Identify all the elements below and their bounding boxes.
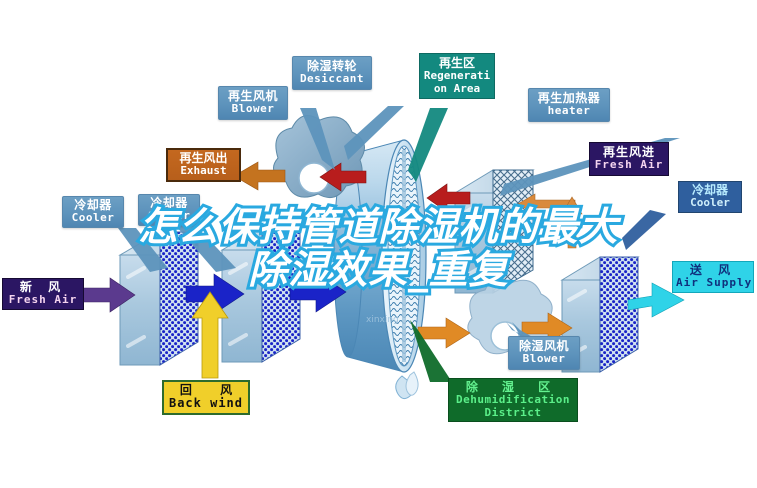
label-fresh-air-inlet-en: Fresh Air (6, 294, 80, 306)
label-regen-heater-en: heater (533, 105, 605, 117)
label-regen-blower-cn: 再生风机 (223, 90, 283, 103)
label-desiccant-rotor-en: Desiccant (297, 73, 367, 85)
label-fresh-air-inlet[interactable]: 新 风 Fresh Air (2, 278, 84, 310)
label-back-wind-en: Back wind (167, 397, 245, 410)
label-regen-exhaust-cn: 再生风出 (171, 152, 236, 165)
label-fresh-air-inlet-cn: 新 风 (6, 281, 80, 294)
label-regen-heater[interactable]: 再生加热器 heater (528, 88, 610, 122)
label-regen-fresh-air[interactable]: 再生风进 Fresh Air (589, 142, 669, 176)
label-regeneration-area[interactable]: 再生区 Regenerati on Area (419, 53, 495, 99)
label-regen-exhaust[interactable]: 再生风出 Exhaust (166, 148, 241, 182)
label-cooler-left-2[interactable]: 冷却器 Cooler (138, 194, 200, 226)
label-back-wind-cn: 回 风 (167, 384, 245, 397)
label-dehum-blower-cn: 除湿风机 (513, 340, 575, 353)
label-dehum-district-en2: District (452, 407, 574, 419)
label-regen-blower[interactable]: 再生风机 Blower (218, 86, 288, 120)
label-regeneration-area-cn: 再生区 (423, 57, 491, 70)
label-desiccant-rotor-cn: 除湿转轮 (297, 60, 367, 73)
label-regen-fresh-air-cn: 再生风进 (593, 146, 665, 159)
diagram-canvas: xinxing (0, 0, 757, 488)
label-dehumidification-district[interactable]: 除 湿 区 Dehumidification District (448, 378, 578, 422)
label-cooler-left-2-en: Cooler (142, 210, 196, 222)
label-cooler-left-1[interactable]: 冷却器 Cooler (62, 196, 124, 228)
label-dehum-blower[interactable]: 除湿风机 Blower (508, 336, 580, 370)
label-air-supply-en: Air Supply (676, 277, 750, 289)
label-regen-blower-en: Blower (223, 103, 283, 115)
condensate-drop (396, 372, 418, 399)
label-dehum-district-en1: Dehumidification (452, 394, 574, 406)
label-cooler-left-2-cn: 冷却器 (142, 197, 196, 210)
label-back-wind[interactable]: 回 风 Back wind (162, 380, 250, 415)
label-dehum-district-cn: 除 湿 区 (452, 381, 574, 394)
svg-text:xinxing: xinxing (366, 315, 399, 325)
label-cooler-right-en: Cooler (682, 197, 738, 209)
label-cooler-right-cn: 冷却器 (682, 184, 738, 197)
label-regeneration-area-en1: Regenerati (423, 70, 491, 82)
label-air-supply[interactable]: 送 风 Air Supply (672, 261, 754, 293)
label-desiccant-rotor[interactable]: 除湿转轮 Desiccant (292, 56, 372, 90)
label-regen-exhaust-en: Exhaust (171, 165, 236, 177)
label-cooler-right[interactable]: 冷却器 Cooler (678, 181, 742, 213)
diagram-graphics: xinxing (0, 0, 757, 488)
label-cooler-left-1-en: Cooler (66, 212, 120, 224)
label-dehum-blower-en: Blower (513, 353, 575, 365)
label-regen-fresh-air-en: Fresh Air (593, 159, 665, 171)
label-regen-heater-cn: 再生加热器 (533, 92, 605, 105)
label-cooler-left-1-cn: 冷却器 (66, 199, 120, 212)
label-regeneration-area-en2: on Area (423, 83, 491, 95)
label-air-supply-cn: 送 风 (676, 264, 750, 277)
